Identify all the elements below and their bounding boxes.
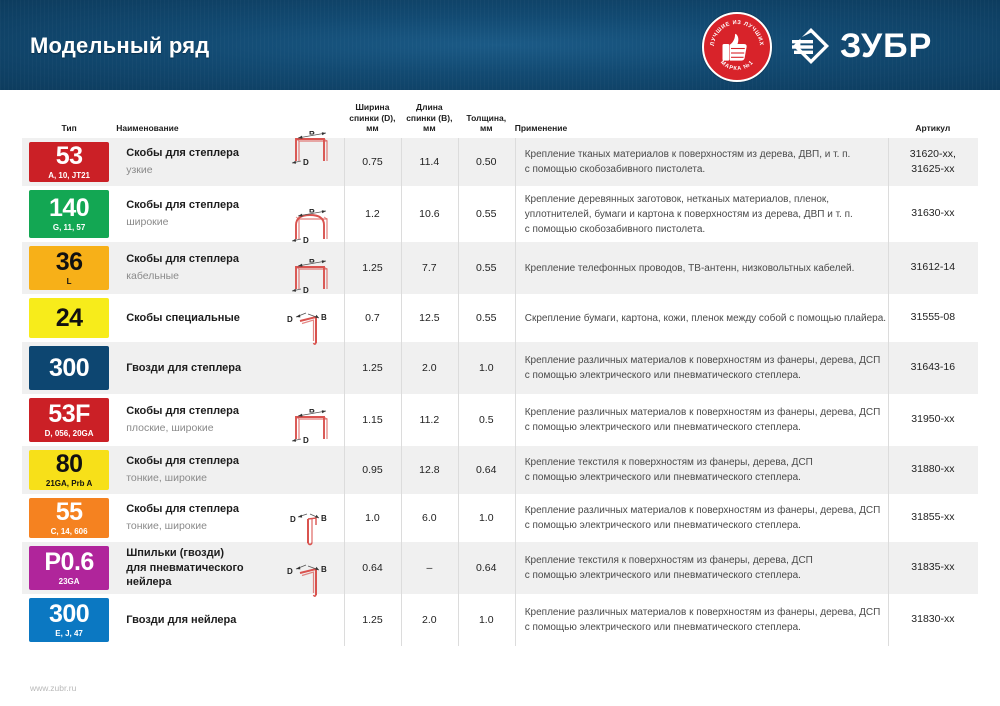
cell-application: Крепление текстиля к поверхностям из фан… [515, 446, 888, 494]
cell-length: 12.8 [401, 446, 458, 494]
application-text: Крепление различных материалов к поверхн… [525, 405, 881, 435]
svg-text:B: B [309, 409, 315, 415]
cell-type: 53A, 10, JT21 [22, 138, 116, 186]
cell-width: 1.2 [344, 186, 401, 242]
type-badge-number: 36 [56, 250, 83, 275]
cell-article: 31643-16 [888, 342, 978, 394]
cell-width: 1.15 [344, 394, 401, 446]
cell-application: Крепление деревянных заготовок, нетканых… [515, 186, 888, 242]
diagram-nail-l: D B [278, 556, 350, 608]
type-badge-number: 300 [49, 602, 89, 627]
cell-length: 2.0 [401, 594, 458, 646]
svg-text:B: B [321, 514, 327, 523]
type-badge-subcodes: 21GA, Prb A [46, 480, 92, 488]
col-header-thickness-line1: Толщина, [458, 113, 515, 124]
col-header-length: Длина спинки (B), мм [401, 102, 458, 138]
cell-article: 31620-xx,31625-xx [888, 138, 978, 186]
table-row: 140G, 11, 57Скобы для степлераширокие1.2… [22, 186, 978, 242]
zubr-diamond-icon [792, 27, 830, 65]
cell-type: 36L [22, 242, 116, 294]
cell-width: 0.95 [344, 446, 401, 494]
svg-text:МАРКА №1: МАРКА №1 [719, 60, 755, 72]
cell-article: 31630-xx [888, 186, 978, 242]
svg-text:D: D [287, 567, 293, 576]
product-name: Скобы для степлера [126, 454, 239, 469]
page-root: Модельный ряд ЛУЧШИЕ ИЗ ЛУЧШИХ МАРКА №1 [0, 0, 1000, 706]
cell-width: 0.75 [344, 138, 401, 186]
cell-type: 300E, J, 47 [22, 594, 116, 646]
type-badge-subcodes: E, J, 47 [55, 630, 83, 638]
cell-name: Скобы специальные [116, 294, 273, 342]
product-name: нейлера [126, 575, 171, 590]
type-badge-subcodes: 23GA [59, 578, 80, 586]
type-badge-subcodes: D, 056, 20GA [45, 430, 94, 438]
cell-name: Скобы для степлераплоские, широкие [116, 394, 273, 446]
table-header-row: Тип Наименование Ширина спинки (D), мм Д… [22, 100, 978, 138]
type-badge-subcodes: A, 10, JT21 [48, 172, 90, 180]
col-header-width: Ширина спинки (D), мм [344, 102, 401, 138]
col-header-width-line1: Ширина [344, 102, 401, 113]
svg-text:D: D [303, 236, 309, 245]
brand-wordmark-text: ЗУБР [840, 27, 932, 66]
cell-article: 31830-xx [888, 594, 978, 646]
cell-article: 31835-xx [888, 542, 978, 594]
col-header-thickness: Толщина, мм [458, 113, 515, 138]
table-row: 53FD, 056, 20GAСкобы для степлераплоские… [22, 394, 978, 446]
type-badge: P0.623GA [29, 546, 109, 590]
col-header-thickness-line2: мм [458, 123, 515, 134]
cell-thickness: 0.55 [458, 186, 515, 242]
product-name: для пневматического [126, 561, 243, 576]
cell-article: 31555-08 [888, 294, 978, 342]
svg-text:B: B [321, 565, 327, 574]
article-number: 31880-xx [911, 462, 954, 477]
application-text: Крепление текстиля к поверхностям из фан… [525, 455, 813, 485]
models-table: Тип Наименование Ширина спинки (D), мм Д… [22, 100, 978, 646]
cell-width: 1.25 [344, 594, 401, 646]
product-subname: плоские, широкие [126, 421, 213, 435]
type-badge-number: 140 [49, 196, 89, 221]
cell-type: 53FD, 056, 20GA [22, 394, 116, 446]
application-text: Крепление различных материалов к поверхн… [525, 353, 881, 383]
cell-width: 1.25 [344, 342, 401, 394]
table-body: 53A, 10, JT21Скобы для степлераузкие0.75… [22, 138, 978, 646]
footer-website: www.zubr.ru [30, 683, 76, 693]
type-badge: 36L [29, 246, 109, 290]
product-name: Скобы специальные [126, 311, 240, 326]
cell-application: Крепление различных материалов к поверхн… [515, 342, 888, 394]
table-row: 24Скобы специальные0.712.50.55Скрепление… [22, 294, 978, 342]
article-number: 31855-xx [911, 510, 954, 525]
application-text: Крепление текстиля к поверхностям из фан… [525, 553, 813, 583]
product-subname: широкие [126, 215, 168, 229]
article-number: 31612-14 [911, 260, 955, 275]
cell-thickness: 0.64 [458, 542, 515, 594]
type-badge-number: 55 [56, 500, 83, 525]
table-row: P0.623GAШпильки (гвозди)для пневматическ… [22, 542, 978, 594]
cell-type: 140G, 11, 57 [22, 186, 116, 242]
type-badge-number: 53F [48, 402, 90, 427]
type-badge-number: 53 [56, 144, 83, 169]
cell-length: 6.0 [401, 494, 458, 542]
article-number: 31830-xx [911, 612, 954, 627]
cell-length: 7.7 [401, 242, 458, 294]
application-text: Крепление тканых материалов к поверхност… [525, 147, 851, 177]
cell-thickness: 1.0 [458, 494, 515, 542]
diagram-nail-l: D B [278, 304, 350, 356]
cell-type: 300 [22, 342, 116, 394]
brand-logo: ЗУБР [792, 26, 932, 66]
product-subname: кабельные [126, 269, 179, 283]
cell-article: 31950-xx [888, 394, 978, 446]
diagram-pin-straight: D B [278, 504, 350, 556]
type-badge: 55C, 14, 606 [29, 498, 109, 538]
cell-width: 1.25 [344, 242, 401, 294]
table-row: 300E, J, 47Гвозди для нейлера1.252.01.0К… [22, 594, 978, 646]
cell-name: Скобы для степлератонкие, широкие [116, 494, 273, 542]
application-text: Крепление различных материалов к поверхн… [525, 605, 881, 635]
col-header-type: Тип [22, 123, 116, 138]
svg-text:D: D [303, 286, 309, 295]
col-header-article: Артикул [888, 123, 978, 138]
type-badge: 8021GA, Prb A [29, 450, 109, 490]
table-row: 53A, 10, JT21Скобы для степлераузкие0.75… [22, 138, 978, 186]
svg-text:D: D [303, 436, 309, 445]
col-header-application: Применение [515, 123, 888, 138]
cell-name: Скобы для степлераширокие [116, 186, 273, 242]
product-subname: узкие [126, 163, 152, 177]
cell-thickness: 0.5 [458, 394, 515, 446]
product-name: Скобы для степлера [126, 252, 239, 267]
type-badge-number: 300 [49, 356, 89, 381]
cell-length: – [401, 542, 458, 594]
type-badge-subcodes: L [67, 278, 72, 286]
table-row: 300Гвозди для степлера1.252.01.0Креплени… [22, 342, 978, 394]
cell-width: 1.0 [344, 494, 401, 542]
cell-thickness: 0.55 [458, 294, 515, 342]
article-number: 31630-xx [911, 206, 954, 221]
page-header: Модельный ряд ЛУЧШИЕ ИЗ ЛУЧШИХ МАРКА №1 [0, 0, 1000, 90]
cell-application: Скрепление бумаги, картона, кожи, пленок… [515, 294, 888, 342]
cell-name: Гвозди для степлера [116, 342, 273, 394]
type-badge-number: 24 [56, 306, 83, 331]
cell-thickness: 1.0 [458, 594, 515, 646]
product-name: Скобы для степлера [126, 146, 239, 161]
application-text: Скрепление бумаги, картона, кожи, пленок… [525, 311, 886, 326]
cell-length: 10.6 [401, 186, 458, 242]
cell-name: Скобы для степлератонкие, широкие [116, 446, 273, 494]
cell-article: 31880-xx [888, 446, 978, 494]
page-title: Модельный ряд [30, 33, 209, 59]
cell-thickness: 1.0 [458, 342, 515, 394]
cell-name: Шпильки (гвозди)для пневматическогонейле… [116, 542, 273, 594]
cell-thickness: 0.55 [458, 242, 515, 294]
cell-name: Гвозди для нейлера [116, 594, 273, 646]
cell-thickness: 0.50 [458, 138, 515, 186]
article-number: 31643-16 [911, 360, 955, 375]
type-badge-number: P0.6 [44, 550, 93, 575]
application-text: Крепление телефонных проводов, ТВ-антенн… [525, 261, 855, 276]
article-number: 31950-xx [911, 412, 954, 427]
product-subname: тонкие, широкие [126, 519, 207, 533]
cell-type: P0.623GA [22, 542, 116, 594]
diagram-staple-square: B D [278, 356, 350, 504]
col-header-length-line1: Длина [401, 102, 458, 113]
type-badge: 24 [29, 298, 109, 338]
quality-seal-logo: ЛУЧШИЕ ИЗ ЛУЧШИХ МАРКА №1 [702, 12, 772, 82]
type-badge-subcodes: G, 11, 57 [53, 224, 85, 232]
article-number: 31620-xx,31625-xx [910, 147, 956, 177]
article-number: 31555-08 [911, 310, 955, 325]
cell-application: Крепление тканых материалов к поверхност… [515, 138, 888, 186]
type-badge-number: 80 [56, 452, 83, 477]
cell-application: Крепление текстиля к поверхностям из фан… [515, 542, 888, 594]
cell-width: 0.7 [344, 294, 401, 342]
product-name: Шпильки (гвозди) [126, 546, 224, 561]
diagram-staple-round: B D [278, 204, 350, 256]
svg-text:B: B [309, 259, 315, 265]
svg-text:D: D [303, 158, 309, 167]
type-badge: 300E, J, 47 [29, 598, 109, 642]
table-row: 36LСкобы для степлеракабельные1.257.70.5… [22, 242, 978, 294]
col-header-length-line2: спинки (B), мм [401, 113, 458, 134]
product-name: Гвозди для нейлера [126, 613, 236, 628]
cell-type: 55C, 14, 606 [22, 494, 116, 542]
svg-text:D: D [287, 315, 293, 324]
diagram-staple-square: B D [278, 100, 350, 204]
cell-width: 0.64 [344, 542, 401, 594]
table-row: 55C, 14, 606Скобы для степлератонкие, ши… [22, 494, 978, 542]
svg-text:B: B [321, 313, 327, 322]
cell-type: 24 [22, 294, 116, 342]
table-row: 8021GA, Prb AСкобы для степлератонкие, ш… [22, 446, 978, 494]
cell-article: 31855-xx [888, 494, 978, 542]
type-badge-subcodes: C, 14, 606 [51, 528, 88, 536]
cell-length: 11.2 [401, 394, 458, 446]
product-name: Скобы для степлера [126, 502, 239, 517]
application-text: Крепление деревянных заготовок, нетканых… [525, 192, 853, 237]
cell-thickness: 0.64 [458, 446, 515, 494]
cell-length: 2.0 [401, 342, 458, 394]
cell-application: Крепление телефонных проводов, ТВ-антенн… [515, 242, 888, 294]
article-number: 31835-xx [911, 560, 954, 575]
diagram-staple-square: B D [278, 256, 350, 304]
svg-text:B: B [309, 209, 315, 215]
cell-application: Крепление различных материалов к поверхн… [515, 594, 888, 646]
cell-application: Крепление различных материалов к поверхн… [515, 394, 888, 446]
cell-application: Крепление различных материалов к поверхн… [515, 494, 888, 542]
cell-name: Скобы для степлераузкие [116, 138, 273, 186]
cell-length: 11.4 [401, 138, 458, 186]
product-name: Скобы для степлера [126, 198, 239, 213]
product-name: Гвозди для степлера [126, 361, 241, 376]
type-badge: 140G, 11, 57 [29, 190, 109, 238]
cell-length: 12.5 [401, 294, 458, 342]
col-header-width-line2: спинки (D), мм [344, 113, 401, 134]
cell-name: Скобы для степлеракабельные [116, 242, 273, 294]
product-subname: тонкие, широкие [126, 471, 207, 485]
svg-text:D: D [290, 515, 296, 524]
type-badge: 53FD, 056, 20GA [29, 398, 109, 442]
thumbs-up-icon: ЛУЧШИЕ ИЗ ЛУЧШИХ МАРКА №1 [702, 12, 772, 82]
type-badge: 53A, 10, JT21 [29, 142, 109, 182]
type-badge: 300 [29, 346, 109, 390]
product-name: Скобы для степлера [126, 404, 239, 419]
col-header-name: Наименование [116, 123, 273, 138]
svg-text:B: B [309, 131, 315, 137]
cell-article: 31612-14 [888, 242, 978, 294]
cell-type: 8021GA, Prb A [22, 446, 116, 494]
application-text: Крепление различных материалов к поверхн… [525, 503, 881, 533]
